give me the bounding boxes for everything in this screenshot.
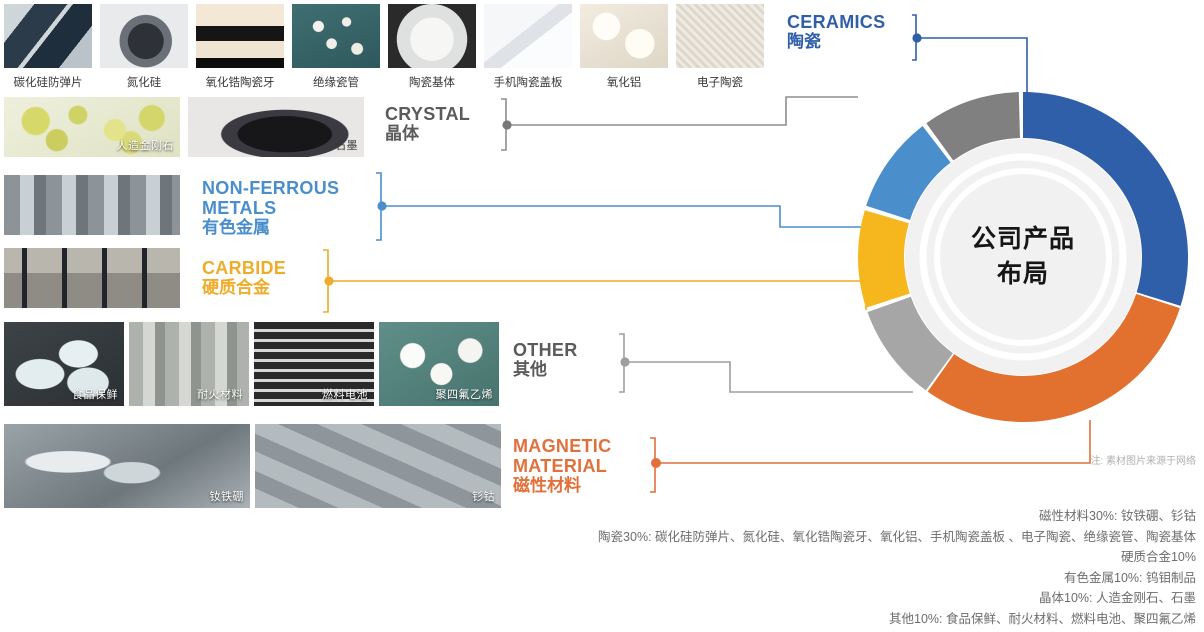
donut-chart: 公司产品 布局	[858, 92, 1188, 422]
category-label-other: OTHER 其他	[513, 340, 578, 379]
connector-dot-crystal	[502, 120, 511, 129]
legend-item-other: 其他10%: 食品保鲜、耐火材料、燃料电池、聚四氟乙烯	[186, 609, 1196, 630]
category-label-magnetic: MAGNETIC MATERIAL 磁性材料	[513, 436, 611, 495]
infographic-canvas: 碳化硅防弹片 氮化硅 氧化锆陶瓷牙 绝缘瓷管 陶瓷基体 手机陶瓷盖板 氧化铝 电…	[0, 0, 1204, 632]
category-label-crystal-cn: 晶体	[385, 124, 470, 143]
legend-item-crystal: 晶体10%: 人造金刚石、石墨	[186, 588, 1196, 609]
donut-center-text: 公司产品 布局	[858, 92, 1188, 422]
category-label-other-cn: 其他	[513, 360, 578, 379]
category-label-nonferrous-cn: 有色金属	[202, 218, 339, 237]
legend-item-carbide: 硬质合金10%	[186, 547, 1196, 568]
source-note: 注: 素材图片来源于网络	[1090, 452, 1196, 467]
legend-item-nonferrous: 有色金属10%: 钨钼制品	[186, 568, 1196, 589]
category-label-magnetic-en2: MATERIAL	[513, 456, 611, 476]
category-label-ceramics: CERAMICS 陶瓷	[787, 12, 885, 51]
legend-item-magnetic: 磁性材料30%: 钕铁硼、钐钴	[186, 506, 1196, 527]
connector-dot-other	[620, 357, 629, 366]
category-label-ceramics-en: CERAMICS	[787, 12, 885, 32]
category-label-crystal: CRYSTAL 晶体	[385, 104, 470, 143]
legend-list: 磁性材料30%: 钕铁硼、钐钴 陶瓷30%: 碳化硅防弹片、氮化硅、氧化锆陶瓷牙…	[186, 506, 1196, 629]
category-label-other-en: OTHER	[513, 340, 578, 360]
donut-center-line2: 布局	[997, 257, 1049, 293]
category-label-carbide: CARBIDE 硬质合金	[202, 258, 286, 297]
legend-item-ceramics: 陶瓷30%: 碳化硅防弹片、氮化硅、氧化锆陶瓷牙、氧化铝、手机陶瓷盖板 、电子陶…	[186, 527, 1196, 548]
category-label-nonferrous-en: NON-FERROUS	[202, 178, 339, 198]
category-label-nonferrous: NON-FERROUS METALS 有色金属	[202, 178, 339, 237]
category-label-nonferrous-en2: METALS	[202, 198, 339, 218]
connector-dot-nonferrous	[377, 201, 386, 210]
category-label-magnetic-cn: 磁性材料	[513, 476, 611, 495]
category-label-crystal-en: CRYSTAL	[385, 104, 470, 124]
connector-dot-carbide	[324, 276, 333, 285]
connector-dot-magnetic	[651, 458, 661, 468]
connector-dot-ceramics	[912, 33, 921, 42]
category-label-carbide-cn: 硬质合金	[202, 278, 286, 297]
category-label-carbide-en: CARBIDE	[202, 258, 286, 278]
category-label-magnetic-en: MAGNETIC	[513, 436, 611, 456]
donut-center-line1: 公司产品	[971, 222, 1075, 258]
category-label-ceramics-cn: 陶瓷	[787, 32, 885, 51]
